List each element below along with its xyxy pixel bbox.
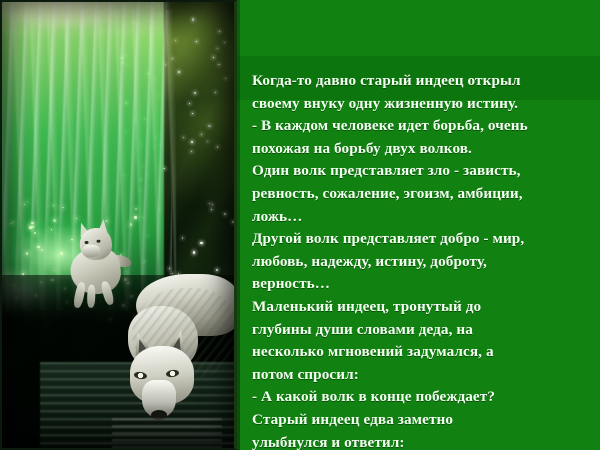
sparkle (41, 249, 43, 251)
star (209, 203, 210, 204)
story-line: похожая на борьбу двух волков. (252, 138, 592, 161)
story-line: Маленький индеец, тронутый до (252, 296, 592, 319)
star (211, 209, 212, 210)
star (208, 125, 210, 127)
story-panel: Когда-то давно старый индеец открылсвоем… (237, 0, 600, 450)
leaping-wolf-leg (72, 281, 86, 308)
leaping-wolf-leg (87, 285, 96, 308)
story-line: Другой волк представляет добро - мир, (252, 228, 592, 251)
star (194, 92, 196, 94)
star (193, 251, 195, 253)
story-text: Когда-то давно старый индеец открылсвоем… (252, 70, 592, 450)
star (183, 137, 184, 138)
wolf-reflection (112, 418, 222, 450)
sparkle (53, 219, 56, 222)
star (217, 146, 218, 147)
sparkle (34, 232, 36, 234)
star (232, 221, 234, 223)
story-line: ложь… (252, 206, 592, 229)
story-line: Один волк представляет зло - зависть, (252, 160, 592, 183)
story-line: глубины души словами деда, на (252, 319, 592, 342)
story-line: потом спросил: (252, 364, 592, 387)
star (182, 237, 183, 238)
story-line: - А какой волк в конце побеждает? (252, 386, 592, 409)
star (224, 42, 225, 43)
sparkle (27, 201, 29, 203)
sparkle (26, 252, 29, 255)
sparkle (134, 216, 137, 219)
star (224, 213, 225, 214)
sparkle (24, 204, 25, 205)
story-line: ревность, сожаление, эгоизм, амбиции, (252, 183, 592, 206)
sparkle (54, 270, 55, 271)
story-line: своему внуку одну жизненную истину. (252, 93, 592, 116)
star (213, 57, 214, 58)
star (192, 18, 194, 20)
star (215, 92, 216, 93)
story-line: улыбнулся и ответил: (252, 432, 592, 450)
star (200, 242, 202, 244)
star (218, 64, 219, 65)
star (207, 141, 208, 142)
star (201, 134, 202, 135)
star (217, 48, 218, 49)
story-line: - В каждом человеке идет борьба, очень (252, 115, 592, 138)
sparkle (62, 207, 63, 208)
star (196, 41, 197, 42)
star (212, 204, 213, 205)
star (191, 151, 192, 152)
star (191, 141, 193, 143)
poster-image: Когда-то давно старый индеец открылсвоем… (0, 0, 600, 450)
star (192, 113, 193, 114)
story-line: несколько мгновений задумался, а (252, 341, 592, 364)
story-line: Старый индеец едва заметно (252, 409, 592, 432)
star (178, 71, 180, 73)
wolves-waterfall-photo (0, 0, 237, 450)
star (219, 31, 220, 32)
star (225, 78, 226, 79)
drinking-wolf (112, 268, 237, 426)
sparkle (29, 226, 32, 229)
star (189, 103, 190, 104)
story-line: Когда-то давно старый индеец открыл (252, 70, 592, 93)
sparkle (76, 218, 77, 219)
story-line: любовь, надежду, истину, доброту, (252, 251, 592, 274)
story-line: верность… (252, 273, 592, 296)
